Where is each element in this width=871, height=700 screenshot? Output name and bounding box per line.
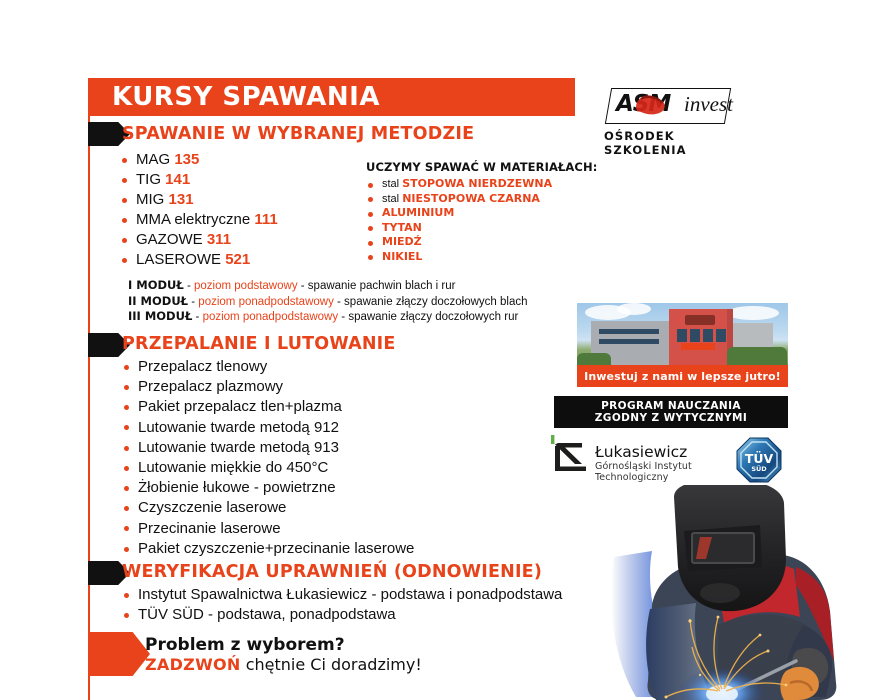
list-item: GAZOWE 311 xyxy=(120,230,278,250)
logo-invest-text: invest xyxy=(684,94,733,115)
list-item: Żłobienie łukowe - powietrzne xyxy=(122,478,414,498)
tuv-badge-line1: TÜV xyxy=(745,451,774,466)
cta-arrow-icon xyxy=(88,632,150,676)
burning-list: Przepalacz tlenowy Przepalacz plazmowy P… xyxy=(122,357,414,559)
logo-swoosh-icon xyxy=(631,91,671,119)
module-desc: - spawanie złączy doczołowych rur xyxy=(338,311,518,323)
list-item: MAG 135 xyxy=(120,150,278,170)
shrub xyxy=(727,347,787,365)
window xyxy=(690,329,700,342)
photo-caption-bar: Inwestuj z nami w lepsze jutro! xyxy=(577,365,788,387)
tuv-badge-line2: SÜD xyxy=(751,464,767,473)
modules-block: I MODUŁ - poziom podstawowy - spawanie p… xyxy=(128,278,528,325)
asm-invest-logo: ASM invest OŚRODEK SZKOLENIA xyxy=(600,88,752,150)
method-code: 141 xyxy=(165,171,190,188)
method-name: MAG xyxy=(136,151,170,168)
poster-root: KURSY SPAWANIA SPAWANIE W WYBRANEJ METOD… xyxy=(0,0,871,700)
lukasiewicz-tagline: Górnośląski Instytut Technologiczny xyxy=(595,461,749,483)
lukasiewicz-name: Łukasiewicz xyxy=(595,443,687,461)
list-item: LASEROWE 521 xyxy=(120,250,278,270)
material-name: TYTAN xyxy=(382,221,422,234)
material-name: ALUMINIUM xyxy=(382,206,454,219)
material-name: NIKIEL xyxy=(382,250,422,263)
vertical-accent-rule xyxy=(88,78,90,700)
list-item: Przepalacz tlenowy xyxy=(122,357,414,377)
list-item: Przecinanie laserowe xyxy=(122,519,414,539)
welder-photo xyxy=(600,485,871,700)
list-item: MMA elektryczne 111 xyxy=(120,210,278,230)
module-level: poziom podstawowy xyxy=(194,280,298,292)
module-level: poziom ponadpodstawowy xyxy=(203,311,339,323)
list-item: Przepalacz plazmowy xyxy=(122,377,414,397)
module-row: III MODUŁ - poziom ponadpodstawowy - spa… xyxy=(128,309,528,325)
materials-block: UCZYMY SPAWAĆ W MATERIAŁACH: stal STOPOW… xyxy=(366,160,597,264)
method-name: TIG xyxy=(136,171,161,188)
module-key: III MODUŁ xyxy=(128,309,192,323)
method-code: 111 xyxy=(254,211,277,228)
method-code: 311 xyxy=(207,231,231,248)
photo-caption: Inwestuj z nami w lepsze jutro! xyxy=(584,370,781,383)
module-dash: - xyxy=(188,296,198,308)
module-desc: - spawanie złączy doczołowych blach xyxy=(334,296,528,308)
section-heading-methods: SPAWANIE W WYBRANEJ METODZIE xyxy=(122,126,474,144)
window xyxy=(677,329,687,342)
materials-list: stal STOPOWA NIERDZEWNA stal NIESTOPOWA … xyxy=(366,177,597,264)
material-prefix: stal xyxy=(382,178,402,190)
module-row: I MODUŁ - poziom podstawowy - spawanie p… xyxy=(128,278,528,294)
module-key: I MODUŁ xyxy=(128,278,184,292)
building-logo-sign xyxy=(685,315,715,325)
list-item: Pakiet czyszczenie+przecinanie laserowe xyxy=(122,539,414,559)
building-photo xyxy=(577,303,788,365)
list-item: stal STOPOWA NIERDZEWNA xyxy=(366,177,597,192)
cloud-shape xyxy=(727,306,779,320)
method-code: 135 xyxy=(174,151,199,168)
material-name: STOPOWA NIERDZEWNA xyxy=(402,177,552,190)
lukasiewicz-logo: Łukasiewicz Górnośląski Instytut Technol… xyxy=(549,434,749,484)
window xyxy=(716,329,726,342)
program-banner-line2: ZGODNY Z WYTYCZNYMI xyxy=(595,412,747,425)
method-name: MIG xyxy=(136,191,164,208)
method-code: 521 xyxy=(225,251,250,268)
material-name: MIEDŹ xyxy=(382,235,422,248)
methods-list: MAG 135 TIG 141 MIG 131 MMA elektryczne … xyxy=(120,150,278,270)
cta-action: ZADZWOŃ chętnie Ci doradzimy! xyxy=(145,656,422,675)
cta-call-rest: chętnie Ci doradzimy! xyxy=(241,655,422,674)
materials-heading: UCZYMY SPAWAĆ W MATERIAŁACH: xyxy=(366,160,597,174)
material-prefix: stal xyxy=(382,193,402,205)
shrub xyxy=(577,353,611,365)
module-level: poziom ponadpodstawowy xyxy=(198,296,334,308)
material-name: NIESTOPOWA CZARNA xyxy=(402,192,540,205)
module-key: II MODUŁ xyxy=(128,294,188,308)
program-banner: PROGRAM NAUCZANIA ZGODNY Z WYTYCZNYMI xyxy=(554,396,788,428)
list-item: stal NIESTOPOWA CZARNA xyxy=(366,192,597,207)
cta-call-word: ZADZWOŃ xyxy=(145,655,241,674)
cta-block: Problem z wyborem? ZADZWOŃ chętnie Ci do… xyxy=(145,636,422,674)
section-heading-verification: WERYFIKACJA UPRAWNIEŃ (ODNOWIENIE) xyxy=(122,564,542,582)
window-band xyxy=(599,329,659,334)
entrance-sign xyxy=(681,343,715,350)
page-title-bar: KURSY SPAWANIA xyxy=(88,78,575,116)
list-item: Lutowanie twarde metodą 913 xyxy=(122,438,414,458)
lukasiewicz-mark-icon xyxy=(549,434,591,474)
module-dash: - xyxy=(192,311,202,323)
list-item: TIG 141 xyxy=(120,170,278,190)
method-name: GAZOWE xyxy=(136,231,203,248)
logo-subtitle: OŚRODEK SZKOLENIA xyxy=(604,129,752,157)
list-item: TYTAN xyxy=(366,221,597,236)
window xyxy=(703,329,713,342)
list-item: Lutowanie miękkie do 450°C xyxy=(122,458,414,478)
tuv-sud-badge-icon: TÜV SÜD xyxy=(736,437,782,483)
list-item: MIG 131 xyxy=(120,190,278,210)
method-name: LASEROWE xyxy=(136,251,221,268)
list-item: TÜV SÜD - podstawa, ponadpodstawa xyxy=(122,605,562,625)
window-band xyxy=(599,339,659,344)
program-banner-line1: PROGRAM NAUCZANIA xyxy=(601,400,741,413)
cta-question: Problem z wyborem? xyxy=(145,636,422,656)
section-heading-burning: PRZEPALANIE I LUTOWANIE xyxy=(122,336,396,354)
module-dash: - xyxy=(184,280,194,292)
list-item: ALUMINIUM xyxy=(366,206,597,221)
verification-list: Instytut Spawalnictwa Łukasiewicz - pods… xyxy=(122,585,562,625)
list-item: Instytut Spawalnictwa Łukasiewicz - pods… xyxy=(122,585,562,605)
page-title: KURSY SPAWANIA xyxy=(88,84,380,110)
list-item: MIEDŹ xyxy=(366,235,597,250)
method-name: MMA elektryczne xyxy=(136,211,250,228)
cloud-shape xyxy=(617,303,651,315)
module-desc: - spawanie pachwin blach i rur xyxy=(298,280,456,292)
list-item: Pakiet przepalacz tlen+plazma xyxy=(122,397,414,417)
list-item: NIKIEL xyxy=(366,250,597,265)
module-row: II MODUŁ - poziom ponadpodstawowy - spaw… xyxy=(128,294,528,310)
list-item: Lutowanie twarde metodą 912 xyxy=(122,418,414,438)
method-code: 131 xyxy=(169,191,194,208)
list-item: Czyszczenie laserowe xyxy=(122,498,414,518)
